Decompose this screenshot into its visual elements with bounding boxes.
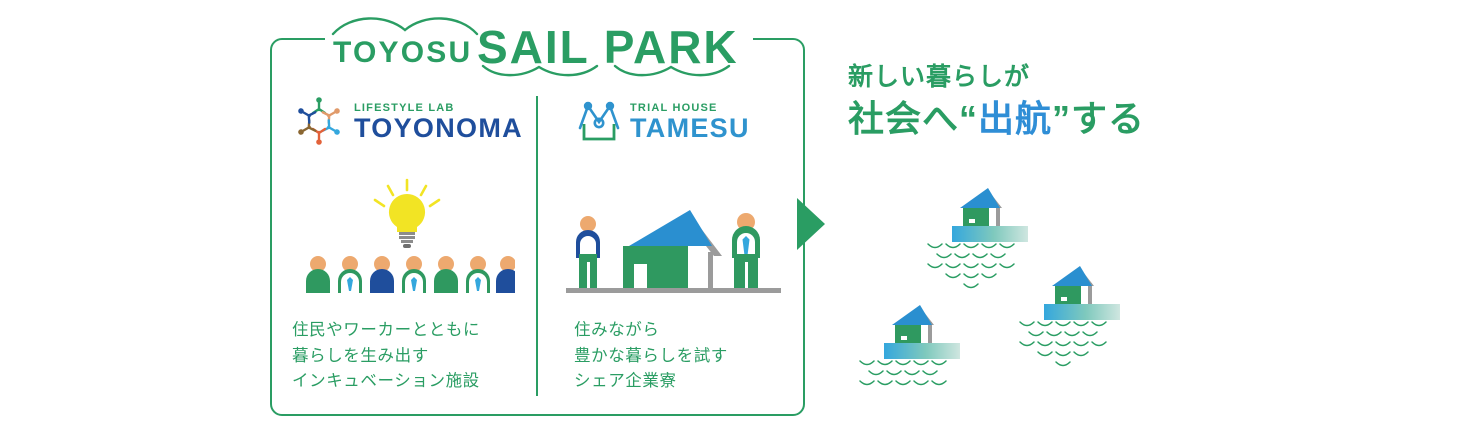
- toyonoma-text-block: LIFESTYLE LAB TOYONOMA: [354, 102, 523, 142]
- toyosu-sail-park-wordmark: TOYOSU SAIL PARK: [325, 8, 765, 76]
- tamesu-brand: TRIAL HOUSE TAMESU: [574, 92, 794, 154]
- toyonoma-caption: 住民やワーカーとともに 暮らしを生み出す インキュベーション施設: [292, 318, 480, 395]
- floating-house-2: [1020, 266, 1120, 366]
- tamesu-column: TRIAL HOUSE TAMESU: [574, 92, 794, 154]
- wave-underline-park-icon: [613, 63, 731, 79]
- house-roof-icon: [629, 210, 712, 246]
- people-circle-icon: [292, 94, 348, 148]
- ground-line: [566, 288, 781, 293]
- tamesu-name: TAMESU: [630, 114, 750, 142]
- column-divider: [536, 96, 538, 396]
- wave-swash-top-icon: [331, 12, 481, 36]
- tamesu-text-block: TRIAL HOUSE TAMESU: [630, 102, 750, 142]
- house-door-icon: [634, 264, 647, 288]
- people-row-illustration: [306, 256, 515, 293]
- lightbulb-icon: [389, 194, 425, 232]
- floating-house-3: [860, 305, 960, 386]
- tagline-line-2: 社会へ“出航”する: [848, 96, 1145, 141]
- tamesu-caption: 住みながら 豊かな暮らしを試す シェア企業寮: [574, 318, 728, 395]
- tagline-accent: 出航: [978, 98, 1052, 139]
- floating-house-1: [928, 188, 1028, 288]
- toyonoma-brand: LIFESTYLE LAB TOYONOMA: [292, 92, 522, 154]
- house-network-icon: [574, 94, 624, 144]
- tagline-line-1: 新しい暮らしが: [848, 62, 1145, 92]
- toyonoma-name: TOYONOMA: [354, 114, 523, 142]
- bulb-base-icon: [399, 232, 415, 248]
- lightbulb-and-people-illustration: [300, 178, 515, 293]
- house-and-people-illustration: [566, 192, 781, 302]
- toyonoma-column: LIFESTYLE LAB TOYONOMA: [292, 92, 522, 154]
- wave-underline-sail-icon: [481, 63, 599, 79]
- tagline-before: 社会へ“: [848, 98, 978, 139]
- right-arrow-icon: [795, 196, 831, 252]
- tagline: 新しい暮らしが 社会へ“出航”する: [848, 62, 1145, 141]
- person-left-illustration: [576, 216, 600, 288]
- wordmark-prefix: TOYOSU: [333, 36, 472, 70]
- floating-houses-on-water-illustration: [852, 176, 1162, 386]
- house-body-icon: [623, 246, 688, 288]
- person-right-illustration: [732, 213, 760, 288]
- tagline-after: ”する: [1052, 98, 1145, 139]
